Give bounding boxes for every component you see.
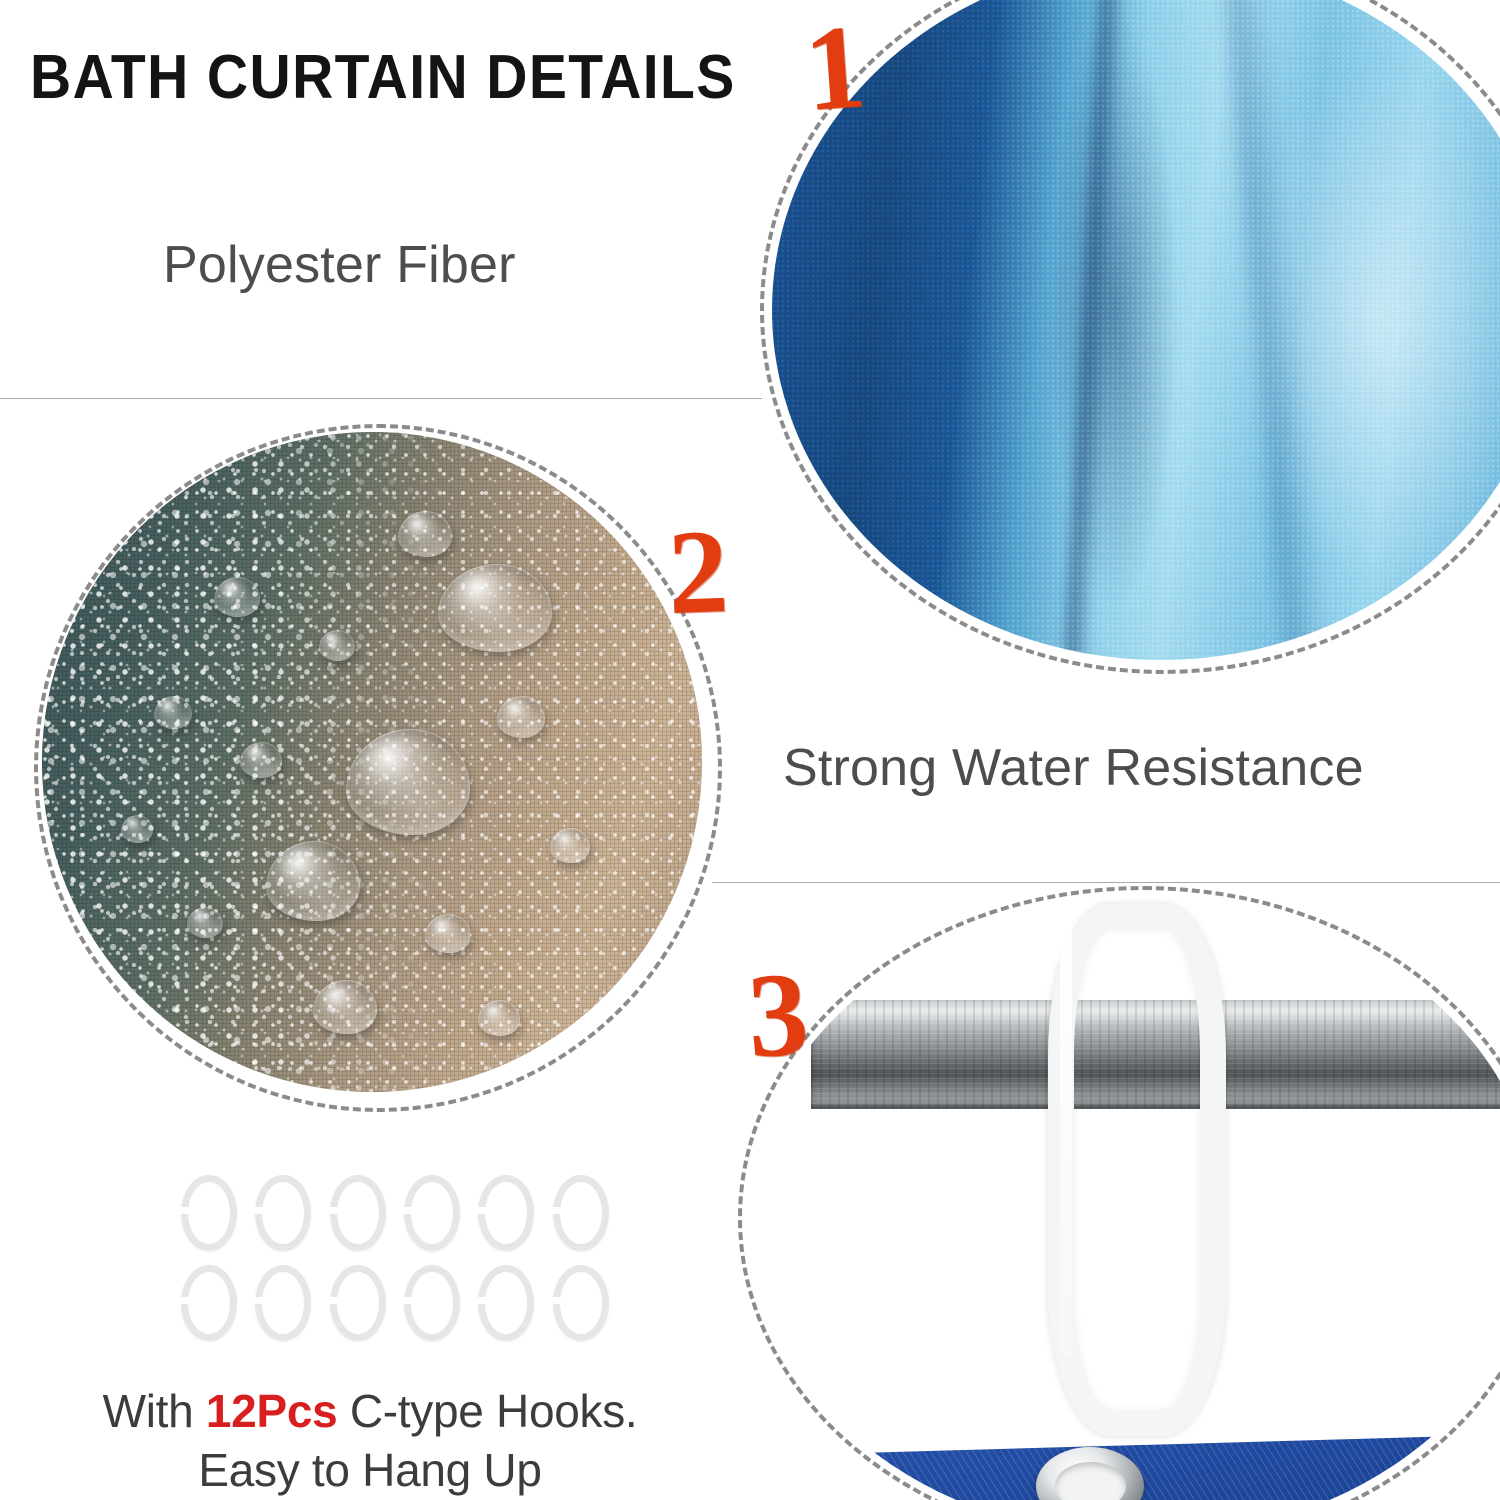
water-droplet	[313, 980, 377, 1034]
photo-hook-on-rod	[748, 898, 1500, 1500]
hook-ring-item	[181, 1265, 237, 1341]
water-droplet	[478, 1000, 520, 1036]
hook-ring-item	[255, 1265, 311, 1341]
hook-ring-item	[553, 1175, 609, 1251]
caption-suffix: C-type Hooks.	[337, 1385, 637, 1437]
hook-ring-item	[553, 1265, 609, 1341]
c-type-hooks-grid	[175, 1175, 615, 1341]
water-droplet	[214, 577, 260, 617]
divider-top	[0, 398, 762, 399]
hook-ring-item	[330, 1175, 386, 1251]
hook-ring-item	[255, 1175, 311, 1251]
white-c-hook	[1048, 904, 1226, 1436]
water-droplet	[154, 696, 192, 729]
hook-ring-item	[478, 1175, 534, 1251]
caption-accent-12pcs: 12Pcs	[206, 1385, 338, 1437]
hook-ring-item	[404, 1265, 460, 1341]
fabric-weave-texture	[772, 0, 1500, 660]
water-droplet	[550, 828, 590, 863]
caption-prefix: With	[103, 1385, 206, 1437]
water-droplet	[497, 696, 545, 738]
step-number-1: 1	[801, 6, 869, 130]
hook-ring-item	[181, 1175, 237, 1251]
feature-label-polyester-fiber: Polyester Fiber	[163, 235, 516, 295]
caption-line-2: Easy to Hang Up	[0, 1441, 740, 1500]
hook-highlight	[1060, 917, 1072, 1357]
divider-bottom	[712, 882, 1500, 883]
water-droplet	[121, 815, 153, 843]
feature-label-water-resistance: Strong Water Resistance	[783, 738, 1364, 798]
bath-curtain-details-infographic: BATH CURTAIN DETAILS 1 2	[0, 0, 1500, 1500]
photo-blue-polyester-fabric	[772, 0, 1500, 660]
water-droplet	[319, 630, 355, 661]
step-number-3: 3	[745, 954, 811, 1077]
step-number-2: 2	[666, 511, 730, 633]
page-title: BATH CURTAIN DETAILS	[30, 42, 736, 113]
hook-ring-item	[478, 1265, 534, 1341]
water-droplet	[425, 914, 471, 953]
hook-ring-item	[330, 1265, 386, 1341]
water-droplet	[398, 511, 452, 557]
water-droplet	[240, 742, 282, 778]
water-droplet	[187, 907, 223, 938]
hook-ring-item	[404, 1175, 460, 1251]
hooks-caption: With 12Pcs C-type Hooks. Easy to Hang Up	[0, 1382, 740, 1500]
water-droplet	[266, 841, 360, 921]
photo-water-droplets	[42, 432, 702, 1092]
